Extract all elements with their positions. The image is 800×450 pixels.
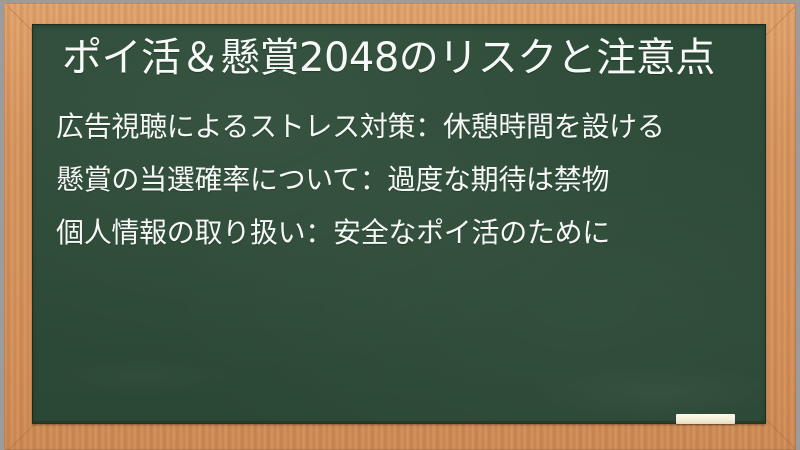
board-line-1: 広告視聴によるストレス対策：休憩時間を設ける — [56, 100, 756, 153]
chalkboard-surface: ポイ活＆懸賞2048のリスクと注意点 広告視聴によるストレス対策：休憩時間を設け… — [32, 24, 766, 424]
board-title: ポイ活＆懸賞2048のリスクと注意点 — [62, 32, 752, 84]
board-tray-shadow — [32, 421, 766, 424]
board-line-list: 広告視聴によるストレス対策：休憩時間を設ける 懸賞の当選確率について：過度な期待… — [56, 100, 756, 259]
frame-miter-bottom-right — [767, 420, 796, 449]
frame-miter-bottom-left — [9, 421, 38, 450]
board-line-2: 懸賞の当選確率について：過度な期待は禁物 — [56, 153, 756, 206]
board-line-3: 個人情報の取り扱い：安全なポイ活のために — [56, 206, 756, 259]
frame-miter-top-right — [766, 6, 795, 35]
chalkboard-slide: ポイ活＆懸賞2048のリスクと注意点 広告視聴によるストレス対策：休憩時間を設け… — [0, 0, 800, 450]
chalk-stick — [676, 414, 735, 424]
